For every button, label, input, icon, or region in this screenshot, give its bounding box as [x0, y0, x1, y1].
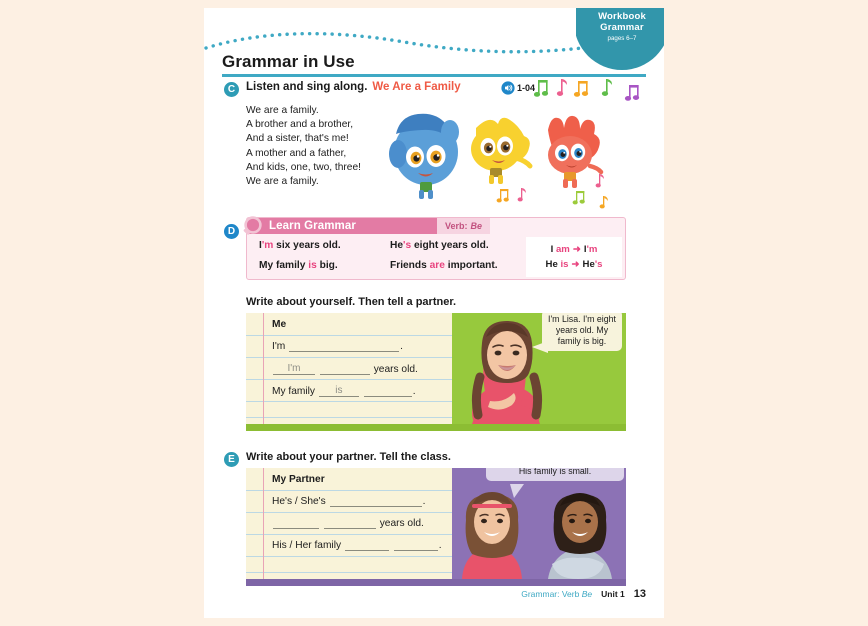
section-marker-e: E	[224, 452, 239, 467]
line3-suffix: years old.	[380, 518, 424, 529]
song-lyrics: We are a family. A brother and a brother…	[246, 104, 361, 189]
music-note-icon	[557, 79, 567, 96]
verb-label: Verb:	[445, 221, 468, 231]
section-e-instruction: Write about your partner. Tell the class…	[246, 451, 451, 463]
line4-suffix: .	[413, 386, 416, 397]
line2-prefix: I'm	[272, 341, 285, 352]
ex1-post: six years old.	[273, 240, 340, 251]
monster-characters-illustration	[384, 100, 614, 212]
line4-suffix: .	[439, 540, 442, 551]
blank-field[interactable]	[320, 365, 370, 375]
blank-field[interactable]	[345, 541, 389, 551]
badge-pages: pages 6–7	[584, 35, 660, 42]
song-title: We Are a Family	[372, 81, 460, 93]
worksheet-base-bar	[246, 424, 626, 431]
rule-line	[246, 401, 452, 402]
rule-line	[246, 379, 452, 380]
worksheet-line-2[interactable]: I'm .	[272, 341, 403, 352]
music-note-icon	[596, 174, 604, 187]
rule-line	[246, 534, 452, 535]
speech-bubble-tail	[532, 341, 548, 357]
section-d-instruction: Write about yourself. Then tell a partne…	[246, 296, 456, 308]
verb-value: Be	[471, 221, 483, 231]
music-note-icon	[497, 189, 509, 202]
rule-line	[246, 512, 452, 513]
ex2-highlight: is	[308, 260, 317, 271]
blank-field[interactable]	[273, 519, 319, 529]
rule-line	[246, 556, 452, 557]
blank-field[interactable]	[330, 497, 422, 507]
learn-grammar-header: Learn Grammar	[247, 218, 437, 234]
music-note-icon	[518, 188, 526, 201]
footer-unit: Unit 1	[601, 589, 625, 599]
page-footer: Grammar: Verb Be Unit 1 13	[222, 588, 646, 600]
line2-prefix: He's / She's	[272, 496, 326, 507]
blue-monster-icon	[389, 114, 459, 199]
worksheet-my-partner: My Partner He's / She's . years old. His…	[246, 468, 626, 586]
badge-line-2: Grammar	[584, 23, 660, 34]
textbook-page: Workbook Grammar pages 6–7 Grammar in Us…	[204, 8, 664, 618]
music-note-icon	[573, 191, 585, 204]
line4-prefix: His / Her family	[272, 540, 341, 551]
ex3-pre: He	[390, 240, 403, 251]
ex3-post: eight years old.	[411, 240, 489, 251]
section-c-instruction: Listen and sing along.	[246, 81, 367, 93]
speech-bubble-lisa: I'm Lisa. I'm eight years old. My family…	[542, 313, 622, 351]
blank-field[interactable]	[364, 387, 412, 397]
ref2-right-plain: He	[583, 259, 595, 270]
lyric-line: A brother and a brother,	[246, 118, 361, 132]
music-note-icon	[625, 85, 639, 101]
music-note-icon	[534, 80, 548, 97]
rule-line	[246, 335, 452, 336]
learn-grammar-title: Learn Grammar	[269, 220, 356, 232]
red-monster-icon	[548, 116, 601, 188]
worksheet-line-3[interactable]: years old.	[272, 518, 424, 529]
music-note-icon	[600, 196, 608, 208]
ref2-right-highlight: 's	[595, 259, 603, 270]
speech-bubble-tail	[508, 484, 526, 502]
student-photo-partners	[452, 468, 626, 579]
lyric-line: We are a family.	[246, 104, 361, 118]
magnifying-glass-icon	[239, 215, 265, 241]
blank-field[interactable]	[324, 519, 376, 529]
ref1-left-highlight: am	[556, 244, 570, 255]
section-marker-c: C	[224, 82, 239, 97]
ex4-pre: Friends	[390, 260, 430, 271]
ex1-highlight: 'm	[262, 240, 273, 251]
workbook-badge: Workbook Grammar pages 6–7	[576, 8, 664, 80]
ref1-right-highlight: 'm	[587, 244, 598, 255]
rule-line	[246, 357, 452, 358]
ex2-pre: My family	[259, 260, 308, 271]
section-marker-d: D	[224, 224, 239, 239]
ref2-left-plain: He	[546, 259, 561, 270]
music-note-icon	[602, 79, 612, 96]
arrow-icon: ➜	[572, 259, 580, 270]
lyric-line: And kids, one, two, three!	[246, 161, 361, 175]
worksheet-me: Me I'm . I'm years old. My family is .	[246, 313, 626, 431]
rule-line	[246, 490, 452, 491]
worksheet-line-4[interactable]: My family is .	[272, 385, 416, 397]
lyric-line: A mother and a father,	[246, 147, 361, 161]
margin-line	[263, 313, 264, 431]
ref2-left-highlight: is	[560, 259, 568, 270]
badge-text: Workbook Grammar pages 6–7	[584, 12, 660, 42]
footer-topic-label: Grammar: Verb	[521, 589, 579, 599]
music-note-icon	[574, 81, 588, 97]
speech-bubble-ben: He's Ben. He's seven years old. His fami…	[486, 468, 624, 481]
boy-photo	[548, 493, 612, 579]
learn-grammar-box: Learn Grammar Verb:Be I'm six years old.…	[246, 217, 626, 280]
blank-field[interactable]	[289, 342, 399, 352]
rule-line	[246, 572, 452, 573]
contraction-row-1: I am➜I'm	[551, 244, 598, 255]
ex2-post: big.	[317, 260, 338, 271]
audio-track-number: 1-04	[517, 83, 535, 93]
line4-prefix: My family	[272, 386, 315, 397]
footer-topic: Grammar: Verb Be	[521, 589, 592, 599]
lyric-line: And a sister, that's me!	[246, 132, 361, 146]
filled-answer[interactable]: is	[319, 385, 359, 397]
margin-line	[263, 468, 264, 586]
blank-field[interactable]	[394, 541, 438, 551]
worksheet-line-2[interactable]: He's / She's .	[272, 496, 425, 507]
line2-suffix: .	[400, 341, 403, 352]
worksheet-heading: Me	[272, 319, 286, 330]
worksheet-line-3[interactable]: I'm years old.	[272, 363, 418, 375]
rule-line	[246, 417, 452, 418]
line3-suffix: years old.	[374, 364, 418, 375]
ex4-highlight: are	[430, 260, 445, 271]
footer-page-number: 13	[634, 588, 646, 600]
girl-photo	[462, 492, 522, 579]
audio-chip[interactable]: 1-04	[501, 81, 535, 95]
verb-label-tab: Verb:Be	[437, 218, 490, 234]
arrow-icon: ➜	[573, 244, 581, 255]
line2-suffix: .	[423, 496, 426, 507]
contraction-reference-box: I am➜I'm He is➜He's	[526, 237, 622, 277]
ex4-post: important.	[445, 260, 498, 271]
speaker-icon[interactable]	[501, 81, 515, 95]
worksheet-line-4[interactable]: His / Her family .	[272, 540, 442, 551]
grammar-example-1: I'm six years old.	[259, 240, 341, 251]
grammar-example-3: He's eight years old.	[390, 240, 489, 251]
grammar-example-4: Friends are important.	[390, 260, 498, 271]
footer-topic-italic: Be	[582, 589, 592, 599]
yellow-monster-icon	[471, 118, 530, 184]
filled-answer[interactable]: I'm	[273, 363, 315, 375]
contraction-row-2: He is➜He's	[546, 259, 603, 270]
section-c-heading: Listen and sing along.We Are a Family	[246, 81, 461, 93]
worksheet-heading: My Partner	[272, 474, 325, 485]
worksheet-base-bar	[246, 579, 626, 586]
grammar-example-2: My family is big.	[259, 260, 338, 271]
ex3-highlight: 's	[403, 240, 411, 251]
lyric-line: We are a family.	[246, 175, 361, 189]
